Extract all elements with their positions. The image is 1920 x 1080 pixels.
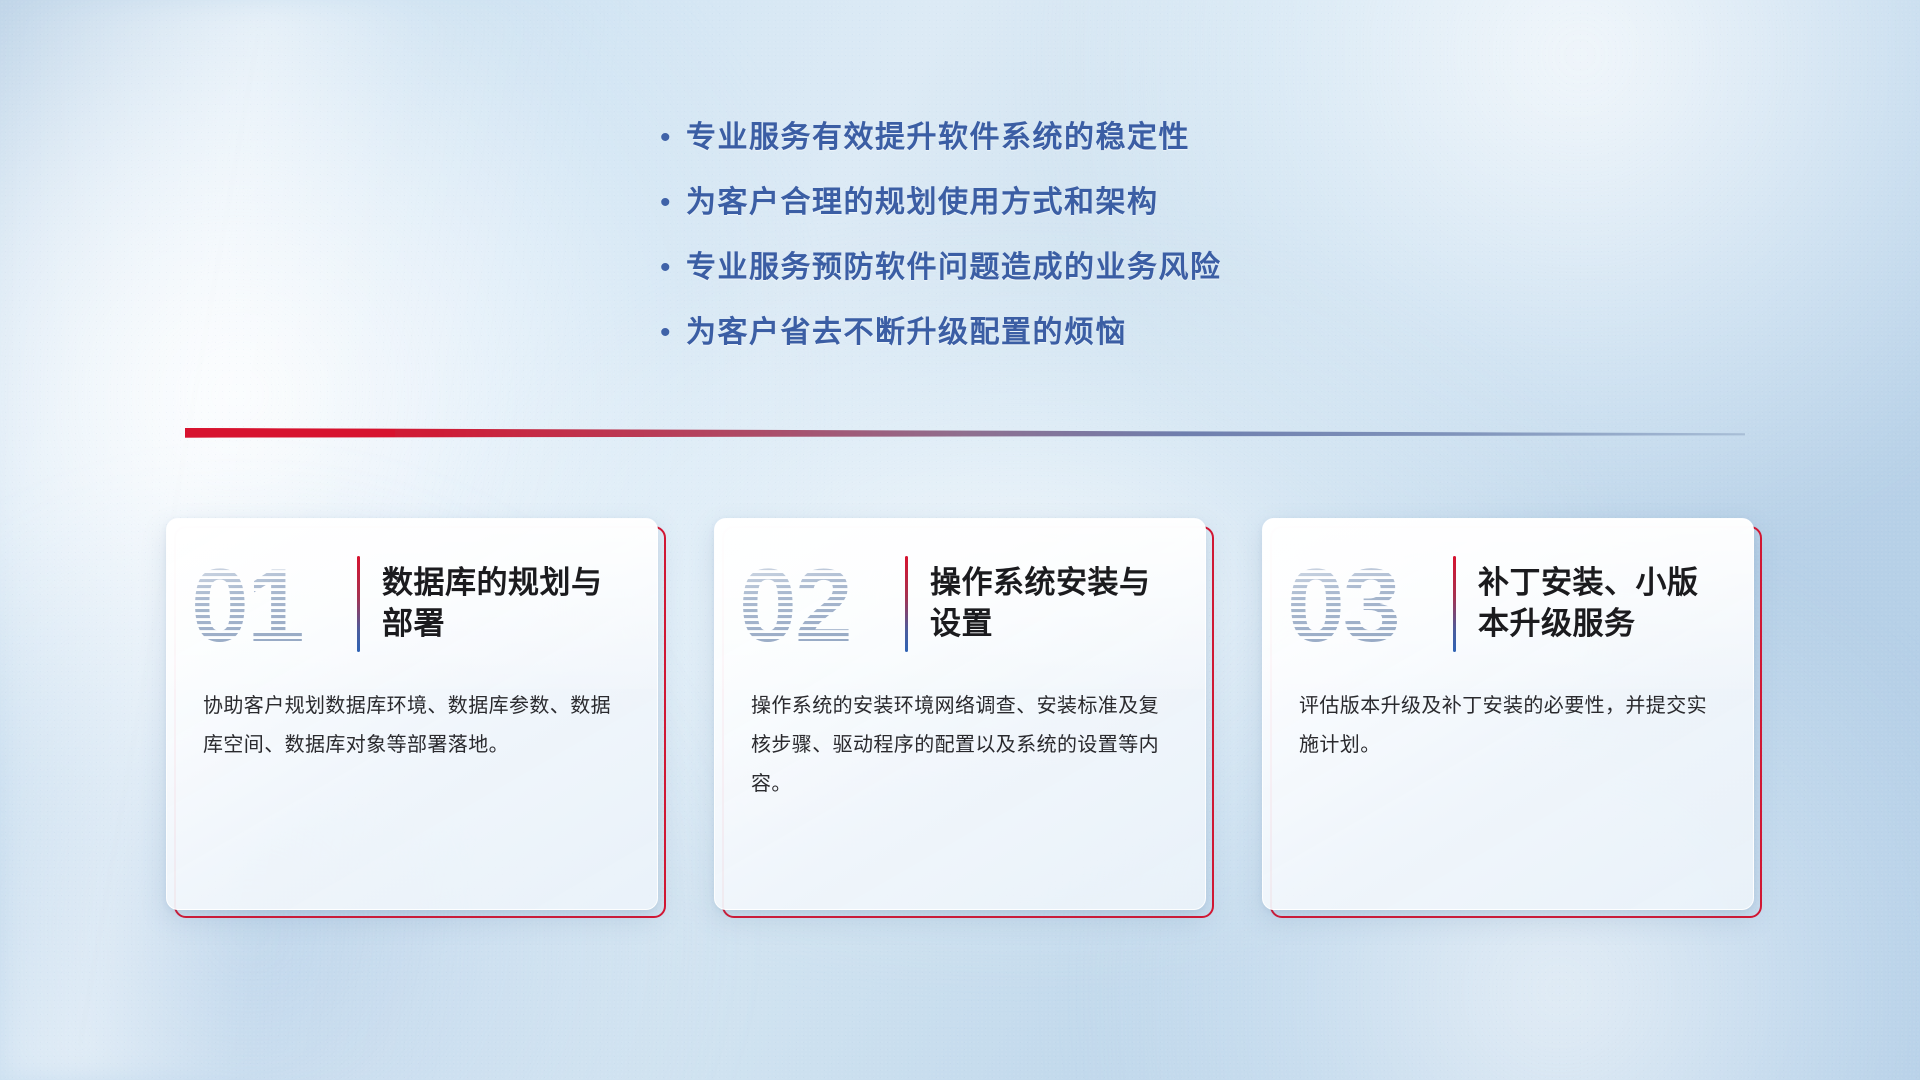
bullet-text: 为客户合理的规划使用方式和架构 [686, 177, 1159, 221]
benefits-bullet-list: • 专业服务有效提升软件系统的稳定性 • 为客户合理的规划使用方式和架构 • 专… [660, 112, 1420, 372]
service-card-02[interactable]: 02 操作系统安装与设置 操作系统的安装环境网络调查、安装标准及复核步骤、驱动程… [714, 518, 1206, 910]
card-title: 数据库的规划与部署 [382, 563, 631, 645]
card-body-text: 操作系统的安装环境网络调查、安装标准及复核步骤、驱动程序的配置以及系统的设置等内… [715, 661, 1205, 804]
slide-canvas: • 专业服务有效提升软件系统的稳定性 • 为客户合理的规划使用方式和架构 • 专… [0, 0, 1920, 1080]
card-title-rule [1453, 556, 1456, 652]
list-item: • 为客户合理的规划使用方式和架构 [660, 177, 1420, 242]
svg-text:01: 01 [191, 549, 303, 659]
card-surface: 01 数据库的规划与部署 协助客户规划数据库环境、数据库参数、数据库空间、数据库… [166, 518, 658, 910]
card-surface: 02 操作系统安装与设置 操作系统的安装环境网络调查、安装标准及复核步骤、驱动程… [714, 518, 1206, 910]
svg-text:03: 03 [1287, 549, 1399, 659]
striped-number-icon: 01 [189, 549, 351, 659]
card-title-rule [905, 556, 908, 652]
list-item: • 为客户省去不断升级配置的烦恼 [660, 307, 1420, 372]
svg-text:02: 02 [739, 549, 851, 659]
bullet-dot-icon: • [660, 188, 686, 218]
card-body-text: 评估版本升级及补丁安装的必要性，并提交实施计划。 [1263, 661, 1753, 765]
tapered-divider-icon [185, 424, 1745, 446]
list-item: • 专业服务预防软件问题造成的业务风险 [660, 242, 1420, 307]
card-number-graphic: 03 [1285, 549, 1447, 659]
card-number-graphic: 02 [737, 549, 899, 659]
card-number-graphic: 01 [189, 549, 351, 659]
card-title-rule [357, 556, 360, 652]
bullet-dot-icon: • [660, 253, 686, 283]
bullet-dot-icon: • [660, 318, 686, 348]
service-card-01[interactable]: 01 数据库的规划与部署 协助客户规划数据库环境、数据库参数、数据库空间、数据库… [166, 518, 658, 910]
section-divider [185, 424, 1745, 446]
card-title: 操作系统安装与设置 [930, 563, 1179, 645]
card-header: 02 操作系统安装与设置 [715, 519, 1205, 661]
list-item: • 专业服务有效提升软件系统的稳定性 [660, 112, 1420, 177]
card-header: 03 补丁安装、小版本升级服务 [1263, 519, 1753, 661]
card-body-text: 协助客户规划数据库环境、数据库参数、数据库空间、数据库对象等部署落地。 [167, 661, 657, 765]
striped-number-icon: 02 [737, 549, 899, 659]
card-header: 01 数据库的规划与部署 [167, 519, 657, 661]
card-title: 补丁安装、小版本升级服务 [1478, 563, 1727, 645]
card-surface: 03 补丁安装、小版本升级服务 评估版本升级及补丁安装的必要性，并提交实施计划。 [1262, 518, 1754, 910]
bullet-text: 专业服务有效提升软件系统的稳定性 [686, 112, 1190, 156]
bullet-dot-icon: • [660, 123, 686, 153]
service-card-row: 01 数据库的规划与部署 协助客户规划数据库环境、数据库参数、数据库空间、数据库… [0, 518, 1920, 910]
bullet-text: 为客户省去不断升级配置的烦恼 [686, 307, 1127, 351]
service-card-03[interactable]: 03 补丁安装、小版本升级服务 评估版本升级及补丁安装的必要性，并提交实施计划。 [1262, 518, 1754, 910]
bullet-text: 专业服务预防软件问题造成的业务风险 [686, 242, 1222, 286]
striped-number-icon: 03 [1285, 549, 1447, 659]
